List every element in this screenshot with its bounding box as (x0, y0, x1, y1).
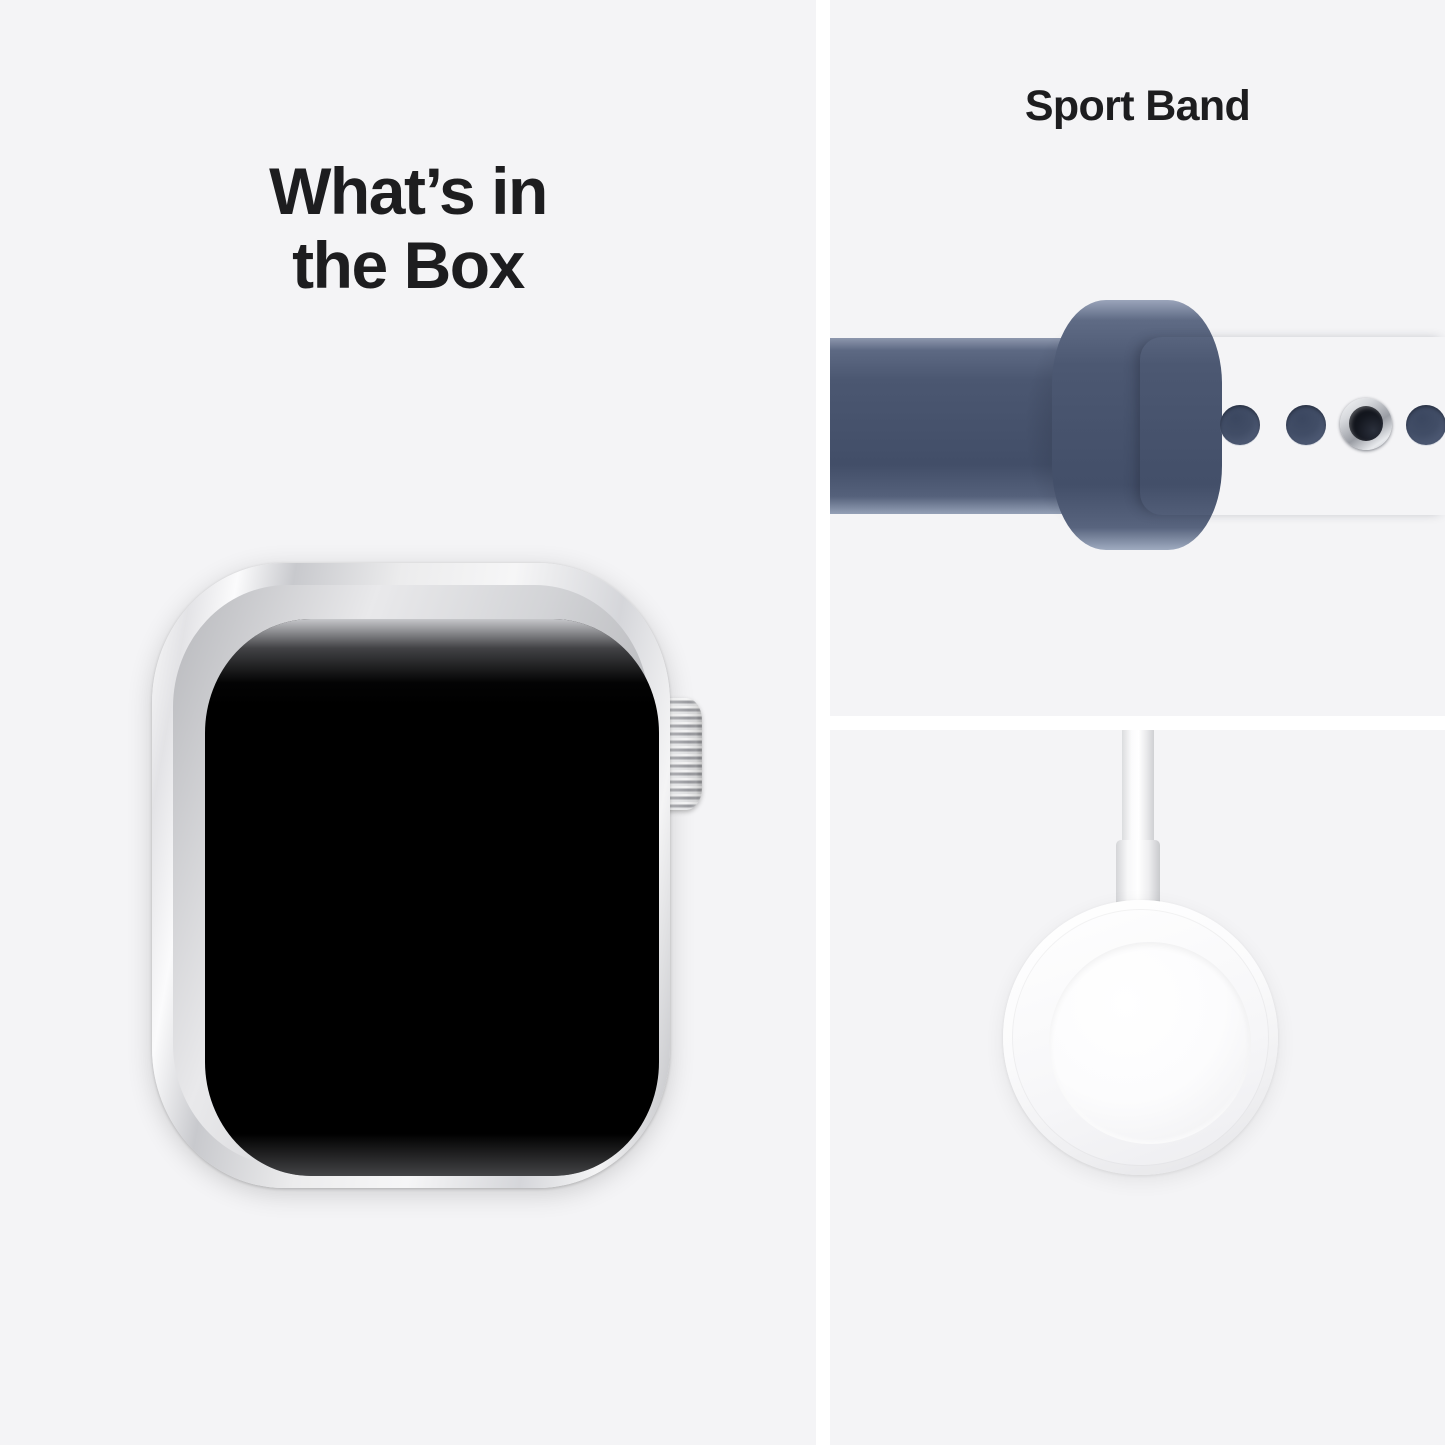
band-adjustment-hole (1286, 405, 1326, 445)
band-adjustment-hole (1220, 405, 1260, 445)
apple-watch-product-image (152, 563, 670, 1188)
band-adjustment-hole (1406, 405, 1445, 445)
charging-puck-rim (1012, 909, 1269, 1166)
charging-cable-product-image (830, 730, 1445, 1445)
display-bottom-reflection (205, 1134, 659, 1176)
page-title-line-1: What’s in (0, 155, 816, 229)
watch-case (152, 563, 670, 1188)
watch-display (205, 619, 659, 1176)
sport-band-product-image (830, 0, 1445, 716)
panel-sport-band: Sport Band (830, 0, 1445, 716)
page-title: What’s in the Box (0, 155, 816, 303)
product-image-stage: What’s in the Box Sport Band (0, 0, 1445, 1445)
cable-cord (1122, 730, 1154, 844)
band-pin-grommet (1340, 398, 1392, 450)
panel-usb-c-charging-cable: USB-C Magnetic Charging Cable (830, 730, 1445, 1445)
charging-puck-inner-disc (1049, 942, 1251, 1144)
page-title-line-2: the Box (0, 229, 816, 303)
magnetic-charging-puck (1003, 900, 1278, 1175)
watch-bezel (173, 585, 649, 1166)
panel-whats-in-the-box: What’s in the Box (0, 0, 816, 1445)
display-glass-reflection (205, 619, 659, 705)
